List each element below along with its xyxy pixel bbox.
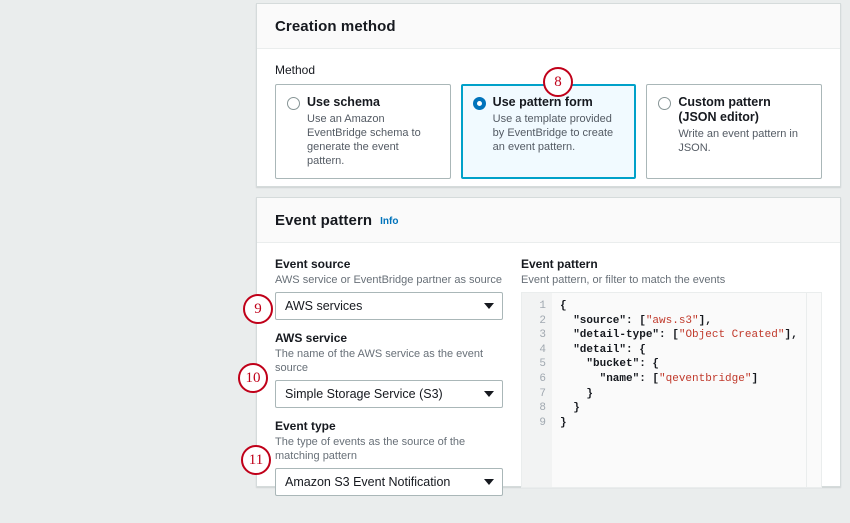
editor-line-number: 4	[522, 343, 546, 358]
event-type-select[interactable]: Amazon S3 Event Notification	[275, 468, 503, 496]
radio-unchecked-icon[interactable]	[287, 97, 300, 110]
method-tile-use-pattern-form-top: Use pattern form	[473, 95, 625, 110]
editor-line: }	[560, 387, 821, 402]
event-pattern-editor-description: Event pattern, or filter to match the ev…	[521, 273, 822, 287]
event-pattern-columns: Event source AWS service or EventBridge …	[275, 257, 822, 507]
event-pattern-header: Event pattern Info	[257, 198, 840, 243]
event-source-select-value: AWS services	[285, 299, 362, 313]
event-pattern-code-editor[interactable]: 123456789 { "source": ["aws.s3"], "detai…	[521, 292, 822, 488]
editor-line-number: 8	[522, 401, 546, 416]
chevron-down-icon	[484, 479, 494, 485]
editor-line: {	[560, 299, 821, 314]
editor-line-number: 3	[522, 328, 546, 343]
annotation-badge-11: 11	[241, 445, 271, 475]
editor-line-number: 9	[522, 416, 546, 431]
method-tile-use-schema-label: Use schema	[307, 95, 380, 110]
method-tile-custom-pattern[interactable]: Custom pattern (JSON editor) Write an ev…	[646, 84, 822, 179]
method-tile-use-pattern-form-label: Use pattern form	[493, 95, 593, 110]
method-tile-use-pattern-form[interactable]: Use pattern form Use a template provided…	[461, 84, 637, 179]
editor-line: }	[560, 416, 821, 431]
annotation-badge-9: 9	[243, 294, 273, 324]
event-pattern-body: Event source AWS service or EventBridge …	[257, 243, 840, 523]
creation-method-title: Creation method	[275, 18, 396, 35]
event-type-description: The type of events as the source of the …	[275, 435, 503, 463]
chevron-down-icon	[484, 391, 494, 397]
chevron-down-icon	[484, 303, 494, 309]
event-source-label: Event source	[275, 257, 503, 272]
event-pattern-title: Event pattern	[275, 212, 372, 229]
info-link[interactable]: Info	[380, 216, 398, 227]
annotation-badge-8: 8	[543, 67, 573, 97]
radio-checked-icon[interactable]	[473, 97, 486, 110]
editor-line: "detail-type": ["Object Created"],	[560, 328, 821, 343]
radio-unchecked-icon[interactable]	[658, 97, 671, 110]
page-root: Creation method Method Use schema Use an…	[0, 0, 850, 475]
aws-service-label: AWS service	[275, 331, 503, 346]
aws-service-select[interactable]: Simple Storage Service (S3)	[275, 380, 503, 408]
event-type-select-value: Amazon S3 Event Notification	[285, 475, 450, 489]
method-tile-use-schema-top: Use schema	[287, 95, 439, 110]
annotation-badge-10: 10	[238, 363, 268, 393]
aws-service-select-value: Simple Storage Service (S3)	[285, 387, 443, 401]
editor-line-number: 6	[522, 372, 546, 387]
editor-line: "name": ["qeventbridge"]	[560, 372, 821, 387]
editor-line-number: 1	[522, 299, 546, 314]
method-tile-use-schema-description: Use an Amazon EventBridge schema to gene…	[307, 112, 439, 168]
editor-scrollbar[interactable]	[807, 293, 821, 487]
editor-line: }	[560, 401, 821, 416]
editor-code-content[interactable]: { "source": ["aws.s3"], "detail-type": […	[552, 293, 821, 487]
editor-line-number: 2	[522, 314, 546, 329]
event-type-label: Event type	[275, 419, 503, 434]
method-tile-group: Use schema Use an Amazon EventBridge sch…	[275, 84, 822, 179]
method-tile-custom-pattern-description: Write an event pattern in JSON.	[678, 127, 810, 155]
aws-service-description: The name of the AWS service as the event…	[275, 347, 503, 375]
editor-line: "bucket": {	[560, 357, 821, 372]
editor-line: "source": ["aws.s3"],	[560, 314, 821, 329]
event-source-select[interactable]: AWS services	[275, 292, 503, 320]
event-pattern-card: Event pattern Info Event source AWS serv…	[256, 197, 841, 487]
method-tile-use-pattern-form-description: Use a template provided by EventBridge t…	[493, 112, 625, 154]
event-pattern-form-column: Event source AWS service or EventBridge …	[275, 257, 503, 507]
method-tile-custom-pattern-label: Custom pattern (JSON editor)	[678, 95, 810, 125]
editor-line-numbers: 123456789	[522, 293, 552, 487]
editor-line-number: 7	[522, 387, 546, 402]
creation-method-card: Creation method Method Use schema Use an…	[256, 3, 841, 187]
method-tile-custom-pattern-top: Custom pattern (JSON editor)	[658, 95, 810, 125]
editor-line-number: 5	[522, 357, 546, 372]
event-pattern-editor-label: Event pattern	[521, 257, 822, 272]
creation-method-header: Creation method	[257, 4, 840, 49]
event-pattern-editor-column: Event pattern Event pattern, or filter t…	[521, 257, 822, 507]
method-tile-use-schema[interactable]: Use schema Use an Amazon EventBridge sch…	[275, 84, 451, 179]
event-source-description: AWS service or EventBridge partner as so…	[275, 273, 503, 287]
editor-line: "detail": {	[560, 343, 821, 358]
